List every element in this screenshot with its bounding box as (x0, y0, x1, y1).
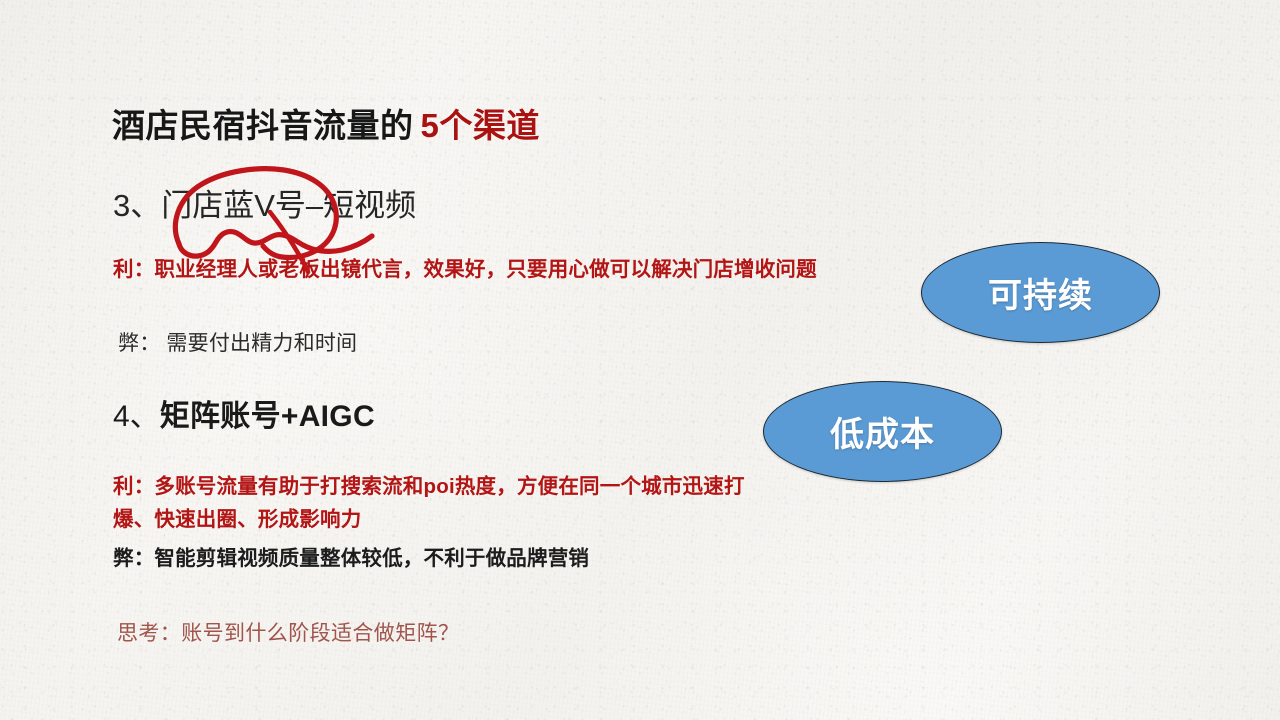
bubble-low-cost: 低成本 (763, 381, 1002, 482)
footer-question-text: 思考：账号到什么阶段适合做矩阵？ (117, 617, 459, 647)
section-3-heading: 3、门店蓝V号–短视频 (113, 188, 416, 224)
section-4-con-text: 弊：智能剪辑视频质量整体较低，不利于做品牌营销 (113, 542, 589, 575)
bubble-sustainable-label: 可持续 (988, 268, 1093, 317)
bubble-low-cost-label: 低成本 (830, 407, 935, 456)
section-3-pro-text: 利：职业经理人或老板出镜代言，效果好，只要用心做可以解决门店增收问题 (113, 253, 913, 286)
slide-title: 酒店民宿抖音流量的5个渠道 (112, 106, 540, 146)
section-4-heading: 4、矩阵账号+AIGC (113, 400, 375, 435)
slide-title-accent: 5个渠道 (421, 107, 540, 144)
section-4-pro-text: 利：多账号流量有助于打搜索流和poi热度，方便在同一个城市迅速打爆、快速出圈、形… (113, 470, 753, 536)
slide-title-main: 酒店民宿抖音流量的 (112, 107, 414, 144)
section-3-con-text: 弊： 需要付出精力和时间 (118, 327, 357, 361)
section-4-number: 4、 (113, 400, 160, 433)
presentation-slide: 酒店民宿抖音流量的5个渠道 3、门店蓝V号–短视频 利：职业经理人或老板出镜代言… (0, 0, 1280, 720)
bubble-sustainable: 可持续 (921, 242, 1160, 343)
section-4-heading-text: 矩阵账号+AIGC (160, 400, 375, 433)
